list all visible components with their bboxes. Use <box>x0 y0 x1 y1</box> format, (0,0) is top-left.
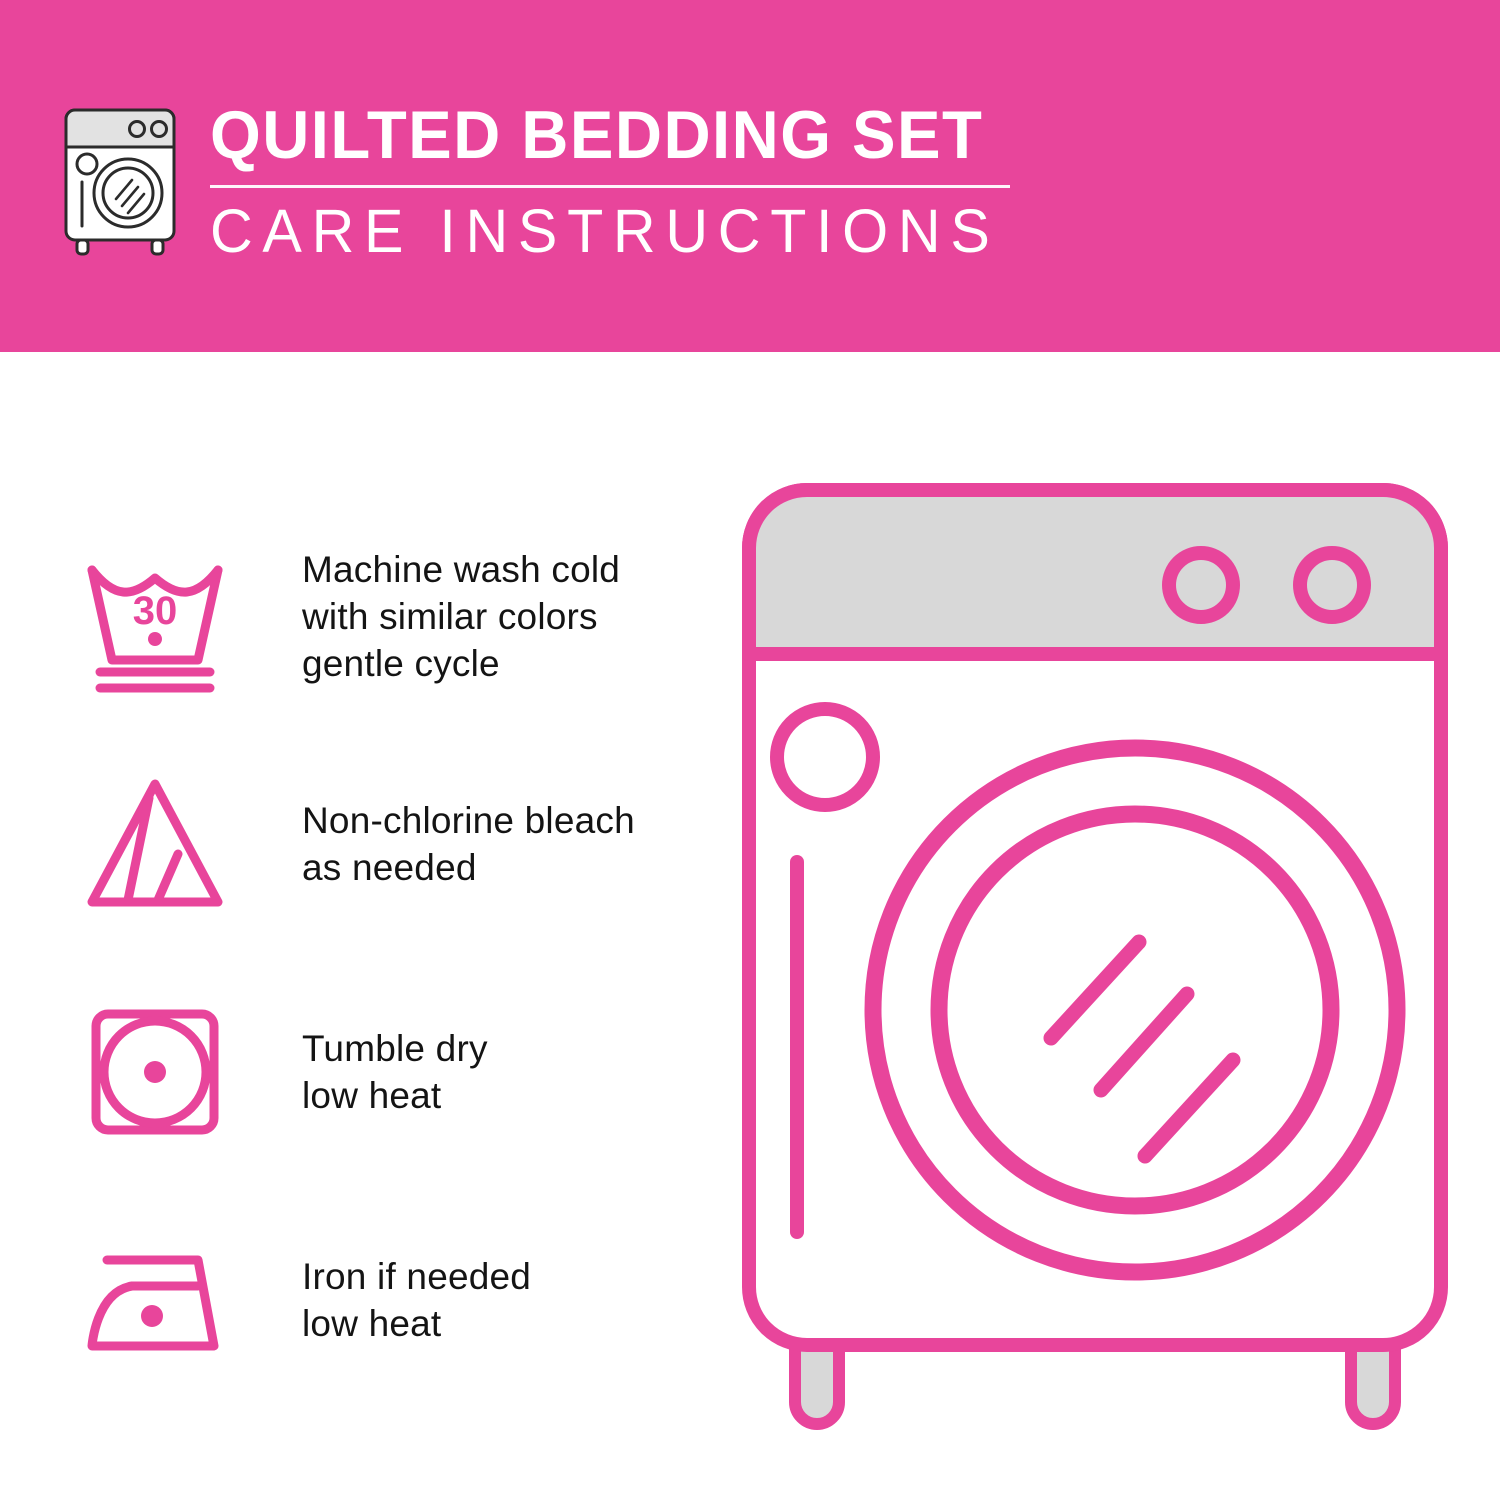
tumble-dry-low-heat-icon <box>70 992 240 1152</box>
wash-tub-30-gentle-icon: 30 <box>70 536 240 696</box>
care-label-bleach: Non-chlorine bleach as needed <box>302 797 635 891</box>
washing-machine-illustration <box>735 472 1455 1472</box>
title-divider <box>210 185 1010 188</box>
header-title-block: QUILTED BEDDING SET CARE INSTRUCTIONS <box>210 98 1024 264</box>
washing-machine-logo-icon <box>60 106 186 256</box>
care-row-wash: 30 Machine wash cold with similar colors… <box>70 502 720 730</box>
page-subtitle: CARE INSTRUCTIONS <box>210 198 1000 264</box>
care-instruction-list: 30 Machine wash cold with similar colors… <box>70 502 720 1414</box>
care-label-tumble-dry: Tumble dry low heat <box>302 1025 488 1119</box>
iron-low-heat-icon <box>70 1220 240 1380</box>
wash-temperature-value: 30 <box>133 589 178 633</box>
bleach-triangle-non-chlorine-icon <box>70 764 240 924</box>
care-label-iron: Iron if needed low heat <box>302 1253 531 1347</box>
care-row-tumble-dry: Tumble dry low heat <box>70 958 720 1186</box>
page-content: 30 Machine wash cold with similar colors… <box>0 352 1500 1500</box>
control-panel <box>749 490 1441 654</box>
page-header: QUILTED BEDDING SET CARE INSTRUCTIONS <box>0 0 1500 352</box>
care-row-bleach: Non-chlorine bleach as needed <box>70 730 720 958</box>
care-row-iron: Iron if needed low heat <box>70 1186 720 1414</box>
care-label-wash: Machine wash cold with similar colors ge… <box>302 546 620 687</box>
header-content: QUILTED BEDDING SET CARE INSTRUCTIONS <box>60 98 1024 264</box>
page-title: QUILTED BEDDING SET <box>210 98 991 172</box>
